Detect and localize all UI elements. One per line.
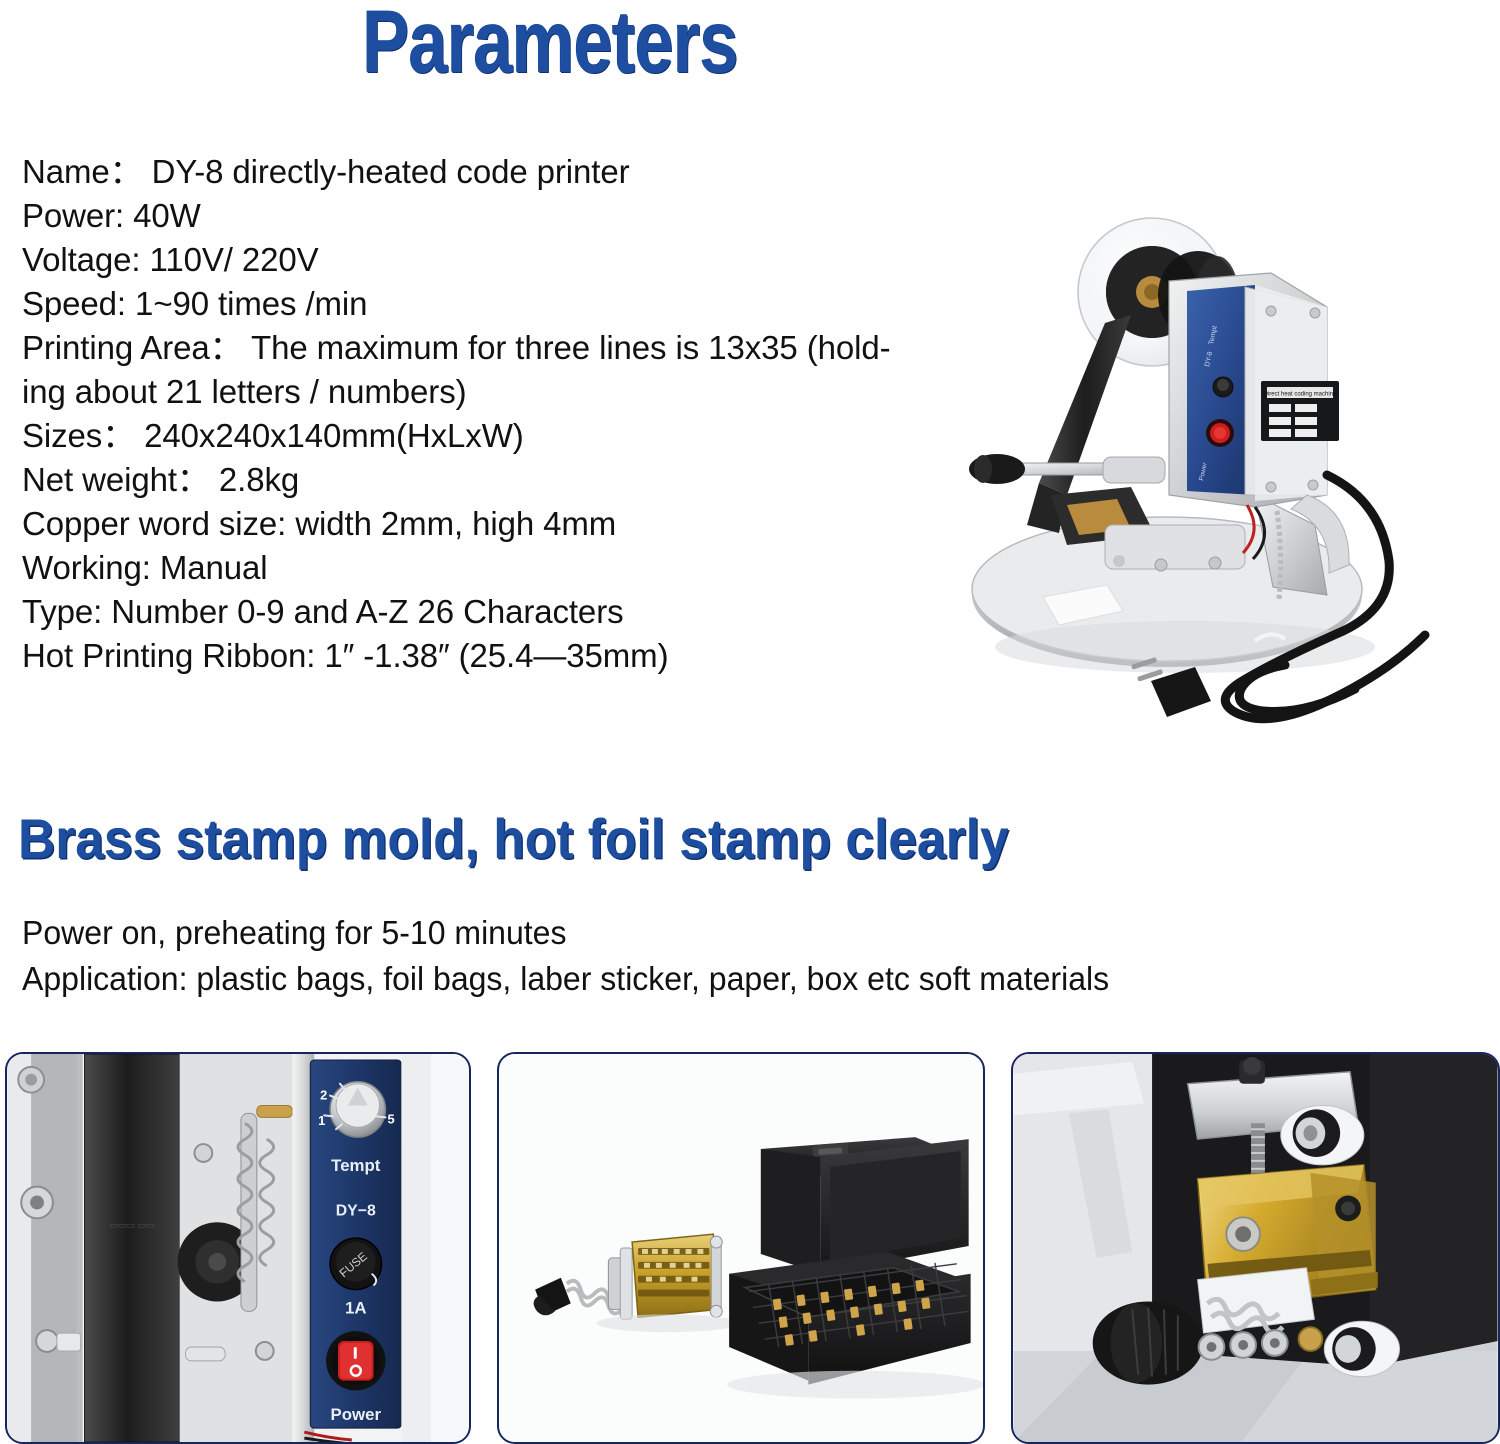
spec-line-copper-word-size: Copper word size: width 2mm, high 4mm xyxy=(22,502,972,546)
product-spec-page: Parameters Name： DY-8 directly-heated co… xyxy=(0,0,1500,1444)
brass-heating-block-photo xyxy=(1011,1052,1500,1444)
svg-text:DY−8: DY−8 xyxy=(336,1202,376,1219)
spec-line-net-weight: Net weight： 2.8kg xyxy=(22,458,972,502)
spec-line-power: Power: 40W xyxy=(22,194,972,238)
spec-line-working: Working: Manual xyxy=(22,546,972,590)
spec-line-speed: Speed: 1~90 times /min xyxy=(22,282,972,326)
section-subheading: Brass stamp mold, hot foil stamp clearly xyxy=(18,806,1009,872)
svg-text:2: 2 xyxy=(320,1088,327,1103)
specifications-list: Name： DY-8 directly-heated code printer … xyxy=(22,150,972,678)
usage-notes: Power on, preheating for 5-10 minutes Ap… xyxy=(22,910,1143,1002)
svg-text:Direct heat coding machine: Direct heat coding machine xyxy=(1264,392,1337,398)
spec-line-sizes: Sizes： 240x240x140mm(HxLxW) xyxy=(22,414,972,458)
dy-8-coding-machine-photo: Direct heat coding machine Tempt DY-8 Po… xyxy=(955,195,1500,725)
page-title: Parameters xyxy=(110,0,990,88)
spec-line-type: Type: Number 0-9 and A-Z 26 Characters xyxy=(22,590,972,634)
svg-text:Tempt: Tempt xyxy=(331,1156,381,1175)
svg-text:5: 5 xyxy=(387,1111,394,1126)
spec-line-hot-printing-ribbon: Hot Printing Ribbon: 1″ -1.38″ (25.4—35m… xyxy=(22,634,972,678)
spec-line-printing-area-2: ing about 21 letters / numbers) xyxy=(22,370,972,414)
note-application: Application: plastic bags, foil bags, la… xyxy=(22,956,1109,1002)
spec-line-printing-area: Printing Area： The maximum for three lin… xyxy=(22,326,972,370)
svg-text:1A: 1A xyxy=(345,1298,367,1317)
svg-text:▭▭▭ ▭▭: ▭▭▭ ▭▭ xyxy=(110,1220,154,1230)
spec-line-name: Name： DY-8 directly-heated code printer xyxy=(22,150,972,194)
control-panel-photo: ▭▭▭ ▭▭ xyxy=(5,1052,471,1444)
product-photo-strip: ▭▭▭ ▭▭ xyxy=(0,1052,1500,1444)
svg-text:1: 1 xyxy=(318,1113,325,1128)
spec-line-voltage: Voltage: 110V/ 220V xyxy=(22,238,972,282)
note-preheating: Power on, preheating for 5-10 minutes xyxy=(22,910,1109,956)
svg-text:Power: Power xyxy=(331,1405,382,1424)
brass-stamp-and-letter-case-photo xyxy=(497,1052,985,1444)
